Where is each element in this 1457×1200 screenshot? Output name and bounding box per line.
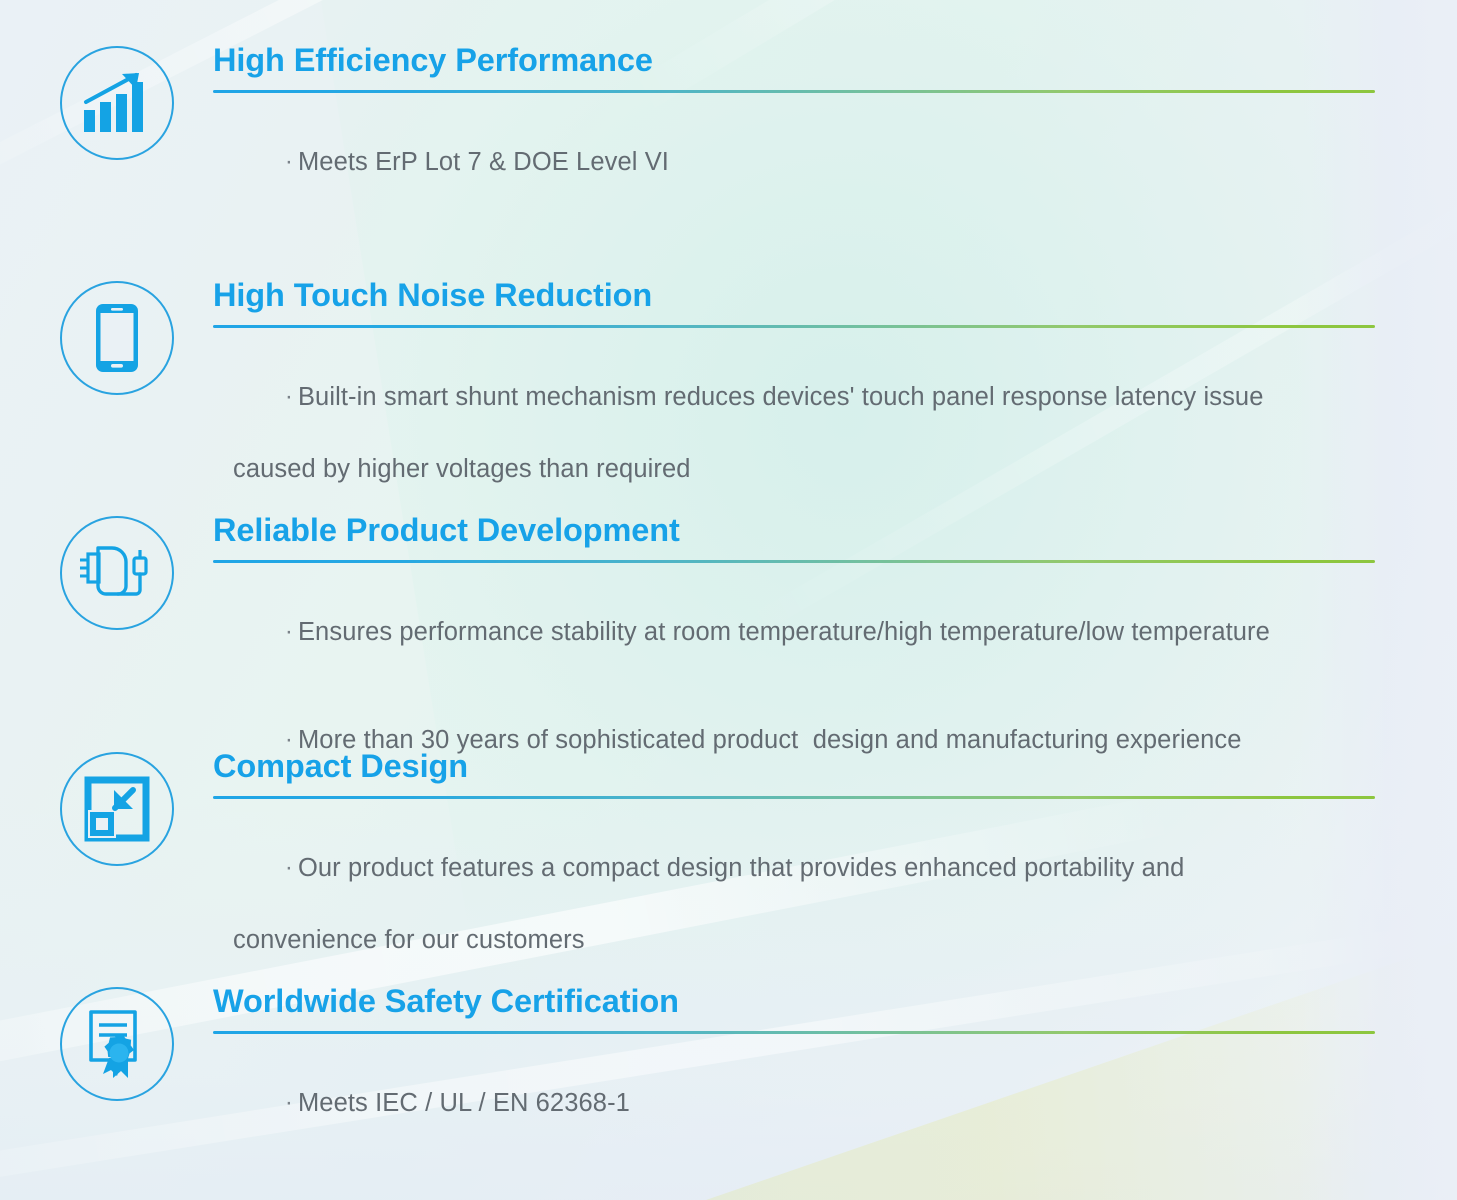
feature-bullets: ·Meets ErP Lot 7 & DOE Level VI bbox=[213, 107, 1375, 216]
icon-circle-frame bbox=[60, 281, 174, 395]
feature-icon-container bbox=[58, 40, 176, 160]
bullet-item: ·Meets ErP Lot 7 & DOE Level VI bbox=[213, 107, 1375, 216]
feature-icon-container bbox=[58, 510, 176, 630]
bullet-item: ·Ensures performance stability at room t… bbox=[213, 577, 1375, 686]
feature-item-high-efficiency-performance: High Efficiency Performance ·Meets ErP L… bbox=[0, 40, 1457, 216]
bullet-text-continued: convenience for our customers bbox=[213, 922, 1375, 958]
icon-circle-frame bbox=[60, 516, 174, 630]
feature-title: High Touch Noise Reduction bbox=[213, 277, 1375, 313]
feature-text-block: High Efficiency Performance ·Meets ErP L… bbox=[213, 40, 1375, 216]
feature-bullets: ·Meets IEC / UL / EN 62368-1 bbox=[213, 1048, 1375, 1157]
bullet-text-continued: caused by higher voltages than required bbox=[213, 451, 1375, 487]
feature-icon-container bbox=[58, 746, 176, 866]
certificate-seal-icon bbox=[83, 1008, 151, 1080]
bullet-text: Built-in smart shunt mechanism reduces d… bbox=[298, 383, 1264, 411]
feature-item-worldwide-safety-certification: Worldwide Safety Certification ·Meets IE… bbox=[0, 981, 1457, 1157]
bullet-marker: · bbox=[285, 1089, 293, 1116]
feature-divider bbox=[213, 796, 1375, 799]
feature-icon-container bbox=[58, 981, 176, 1101]
bullet-text: Meets ErP Lot 7 & DOE Level VI bbox=[298, 148, 669, 176]
feature-icon-container bbox=[58, 275, 176, 395]
feature-text-block: Worldwide Safety Certification ·Meets IE… bbox=[213, 981, 1375, 1157]
feature-divider bbox=[213, 1031, 1375, 1034]
bullet-text: Ensures performance stability at room te… bbox=[298, 618, 1270, 646]
bullet-text: Meets IEC / UL / EN 62368-1 bbox=[298, 1089, 630, 1117]
growth-bar-chart-icon bbox=[82, 72, 152, 134]
compact-resize-icon bbox=[84, 776, 150, 842]
bullet-marker: · bbox=[285, 854, 293, 881]
icon-circle-frame bbox=[60, 987, 174, 1101]
icon-circle-frame bbox=[60, 46, 174, 160]
feature-title: Compact Design bbox=[213, 748, 1375, 784]
feature-title: High Efficiency Performance bbox=[213, 42, 1375, 78]
bullet-text: Our product features a compact design th… bbox=[298, 854, 1184, 882]
power-adapter-icon bbox=[78, 540, 156, 606]
feature-title: Reliable Product Development bbox=[213, 512, 1375, 548]
feature-list: High Efficiency Performance ·Meets ErP L… bbox=[0, 0, 1457, 1200]
smartphone-icon bbox=[95, 303, 139, 373]
bullet-marker: · bbox=[285, 148, 293, 175]
feature-divider bbox=[213, 560, 1375, 563]
bullet-marker: · bbox=[285, 618, 293, 645]
feature-divider bbox=[213, 90, 1375, 93]
feature-title: Worldwide Safety Certification bbox=[213, 983, 1375, 1019]
feature-divider bbox=[213, 325, 1375, 328]
icon-circle-frame bbox=[60, 752, 174, 866]
bullet-marker: · bbox=[285, 383, 293, 410]
bullet-item: ·Meets IEC / UL / EN 62368-1 bbox=[213, 1048, 1375, 1157]
